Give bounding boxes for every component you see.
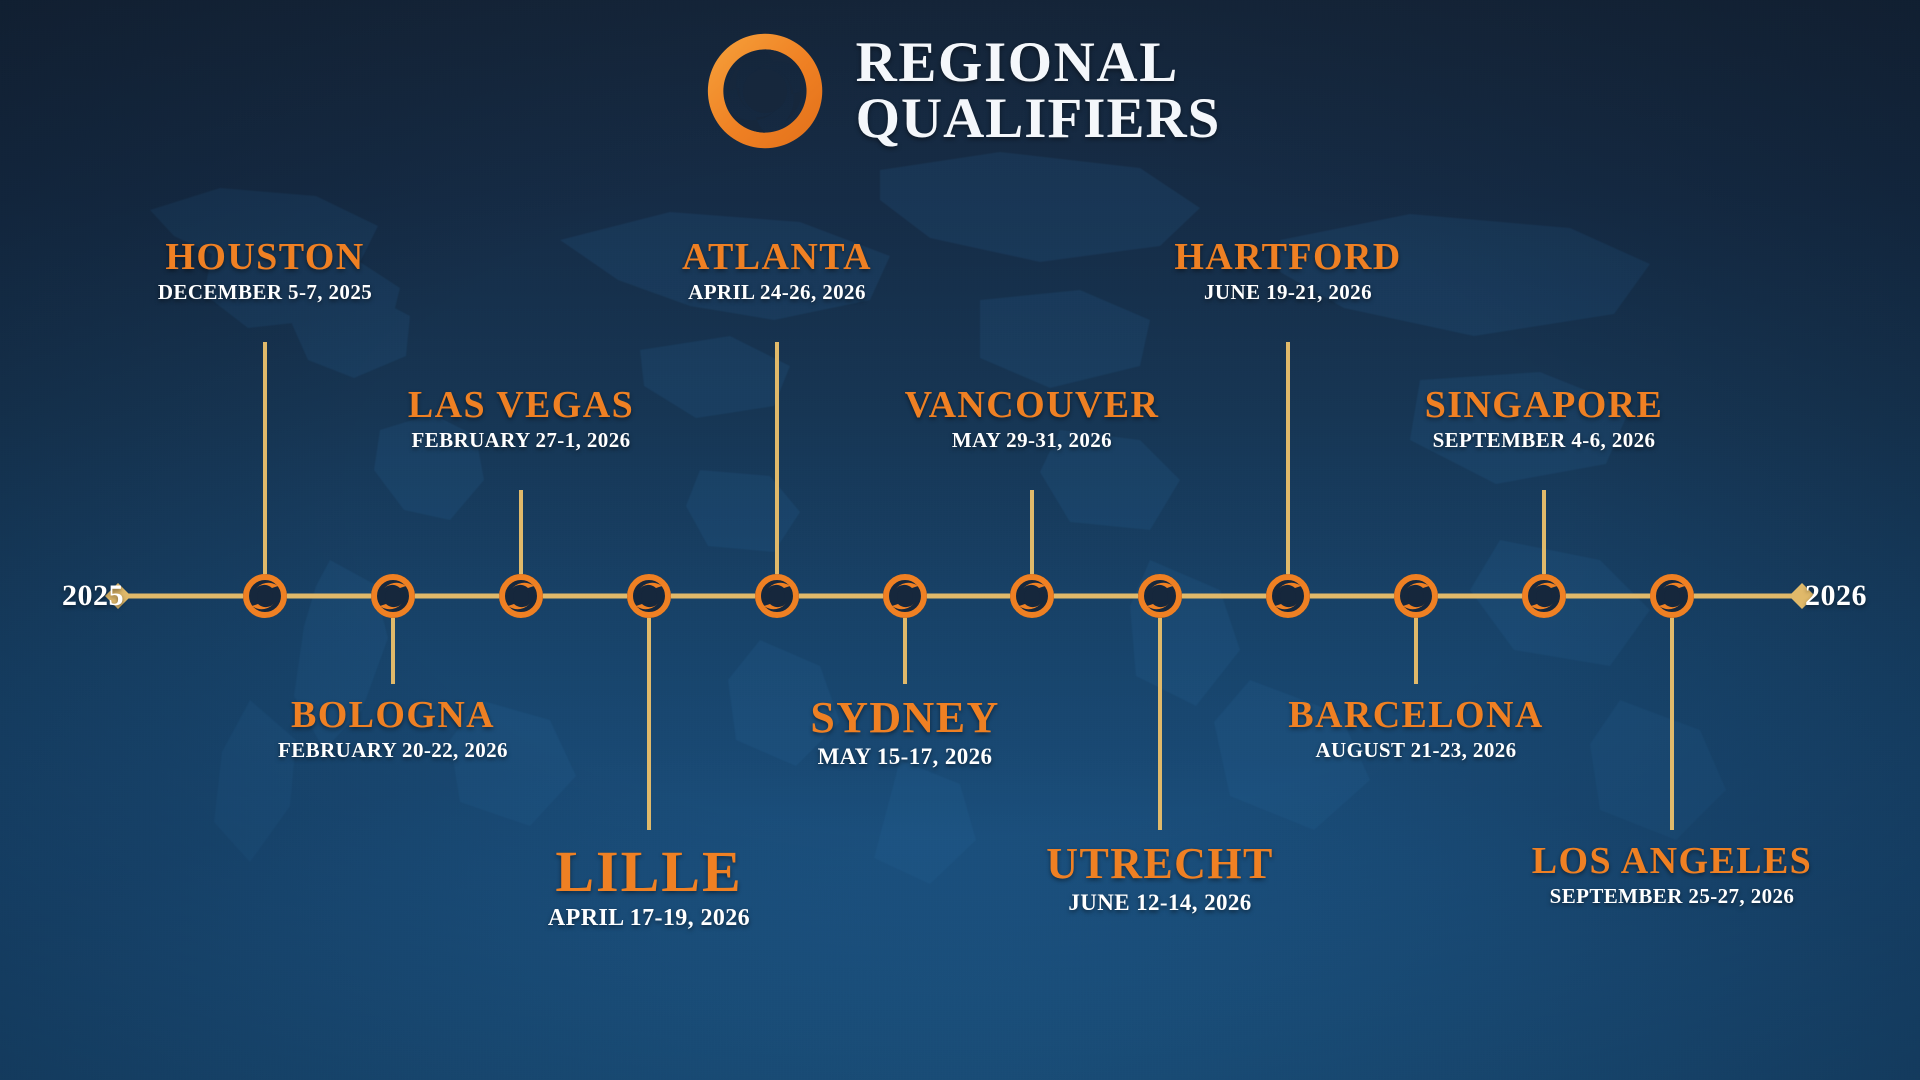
- brand-title-line2: QUALIFIERS: [856, 91, 1221, 147]
- timeline-event[interactable]: UTRECHTJUNE 12-14, 2026: [930, 842, 1390, 918]
- timeline-start-year: 2025: [62, 579, 124, 613]
- event-date: APRIL 17-19, 2026: [419, 903, 879, 933]
- event-city: VANCOUVER: [802, 386, 1262, 425]
- event-city: HARTFORD: [1058, 238, 1518, 277]
- timeline-event[interactable]: BARCELONAAUGUST 21-23, 2026: [1186, 696, 1646, 763]
- header: REGIONAL QUALIFIERS: [0, 26, 1920, 156]
- timeline-marker-node[interactable]: [1522, 574, 1566, 618]
- event-date: SEPTEMBER 25-27, 2026: [1442, 883, 1902, 909]
- event-date: SEPTEMBER 4-6, 2026: [1314, 427, 1774, 453]
- timeline-event[interactable]: VANCOUVERMAY 29-31, 2026: [802, 386, 1262, 453]
- event-city: SYDNEY: [675, 696, 1135, 741]
- event-city: ATLANTA: [547, 238, 1007, 277]
- timeline-marker-node[interactable]: [1138, 574, 1182, 618]
- timeline-event[interactable]: SINGAPORESEPTEMBER 4-6, 2026: [1314, 386, 1774, 453]
- timeline-event[interactable]: SYDNEYMAY 15-17, 2026: [675, 696, 1135, 772]
- timeline-marker-node[interactable]: [883, 574, 927, 618]
- timeline-event[interactable]: BOLOGNAFEBRUARY 20-22, 2026: [163, 696, 623, 763]
- event-date: DECEMBER 5-7, 2025: [35, 279, 495, 305]
- timeline-marker-node[interactable]: [1266, 574, 1310, 618]
- timeline-marker-node[interactable]: [1650, 574, 1694, 618]
- timeline-event[interactable]: LOS ANGELESSEPTEMBER 25-27, 2026: [1442, 842, 1902, 909]
- timeline: 2025 2026 HOUSTONDECEMBER 5-7, 2025BOLOG…: [0, 0, 1920, 1080]
- timeline-marker-node[interactable]: [627, 574, 671, 618]
- timeline-marker-node[interactable]: [243, 574, 287, 618]
- event-date: JUNE 12-14, 2026: [930, 889, 1390, 918]
- timeline-event[interactable]: ATLANTAAPRIL 24-26, 2026: [547, 238, 1007, 305]
- timeline-marker-node[interactable]: [371, 574, 415, 618]
- timeline-marker-node[interactable]: [499, 574, 543, 618]
- timeline-event[interactable]: LAS VEGASFEBRUARY 27-1, 2026: [291, 386, 751, 453]
- swirl-ring-logo-icon: [700, 26, 830, 156]
- event-date: AUGUST 21-23, 2026: [1186, 737, 1646, 763]
- event-city: HOUSTON: [35, 238, 495, 277]
- event-date: APRIL 24-26, 2026: [547, 279, 1007, 305]
- timeline-event[interactable]: HOUSTONDECEMBER 5-7, 2025: [35, 238, 495, 305]
- event-date: MAY 29-31, 2026: [802, 427, 1262, 453]
- event-city: BOLOGNA: [163, 696, 623, 735]
- timeline-event[interactable]: LILLEAPRIL 17-19, 2026: [419, 842, 879, 933]
- event-date: FEBRUARY 27-1, 2026: [291, 427, 751, 453]
- brand-title-line1: REGIONAL: [856, 35, 1221, 91]
- timeline-end-year: 2026: [1805, 579, 1867, 613]
- event-city: LAS VEGAS: [291, 386, 751, 425]
- event-city: BARCELONA: [1186, 696, 1646, 735]
- event-date: MAY 15-17, 2026: [675, 743, 1135, 772]
- timeline-axis: [0, 0, 1920, 1080]
- timeline-marker-node[interactable]: [755, 574, 799, 618]
- timeline-marker-node[interactable]: [1010, 574, 1054, 618]
- timeline-event[interactable]: HARTFORDJUNE 19-21, 2026: [1058, 238, 1518, 305]
- event-date: FEBRUARY 20-22, 2026: [163, 737, 623, 763]
- event-date: JUNE 19-21, 2026: [1058, 279, 1518, 305]
- timeline-marker-node[interactable]: [1394, 574, 1438, 618]
- event-city: LOS ANGELES: [1442, 842, 1902, 881]
- brand-title: REGIONAL QUALIFIERS: [856, 35, 1221, 147]
- event-city: LILLE: [419, 842, 879, 901]
- event-city: UTRECHT: [930, 842, 1390, 887]
- event-city: SINGAPORE: [1314, 386, 1774, 425]
